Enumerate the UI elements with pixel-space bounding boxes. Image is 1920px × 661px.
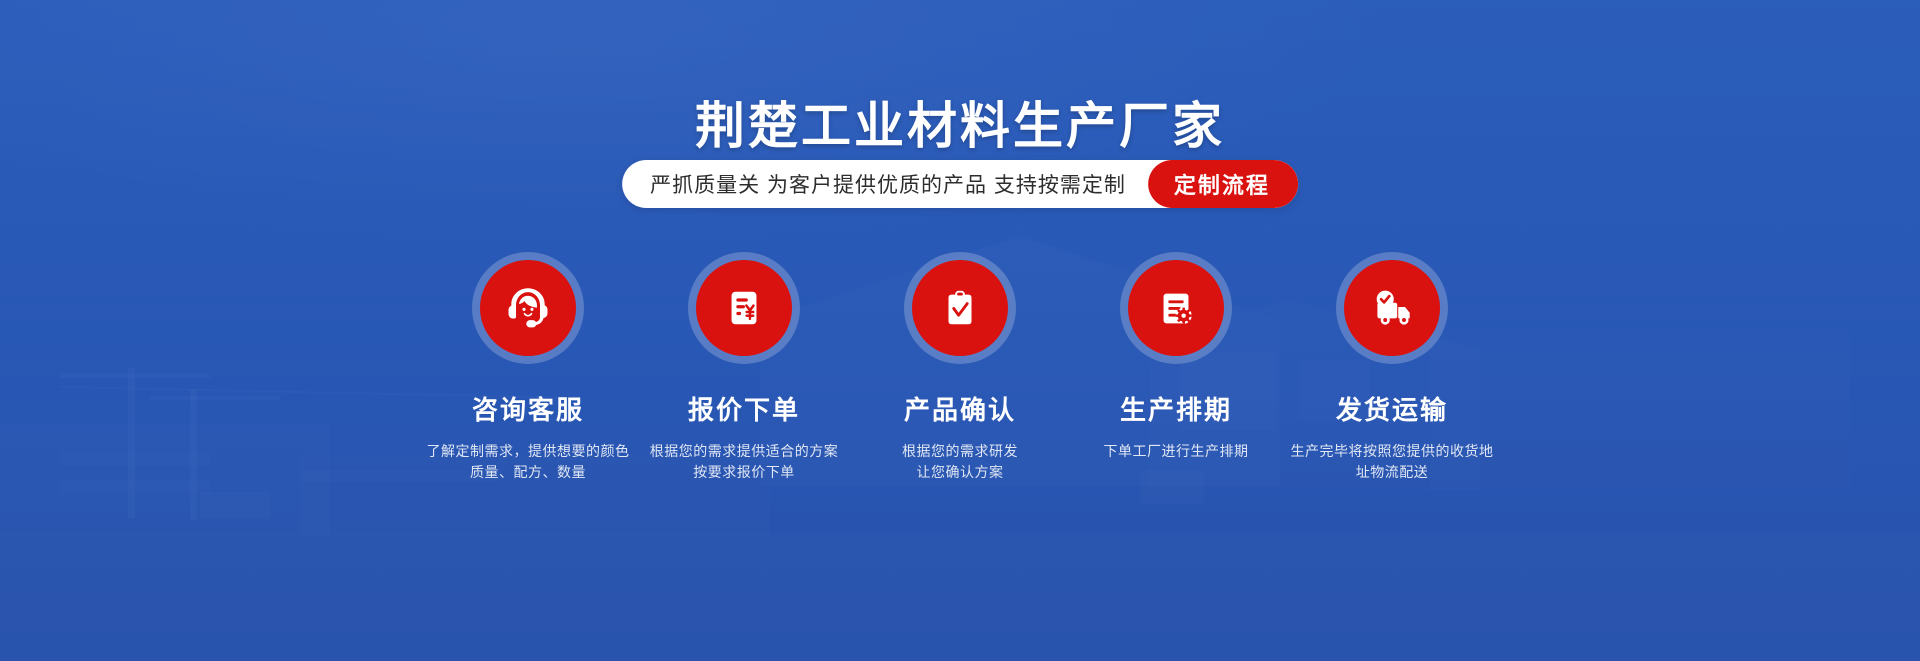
tagline-pill: 严抓质量关 为客户提供优质的产品 支持按需定制 定制流程 xyxy=(622,160,1298,208)
step-icon-ring[interactable] xyxy=(688,252,800,364)
delivery-truck-check-icon xyxy=(1367,283,1417,333)
step-description: 了解定制需求，提供想要的颜色 质量、配方、数量 xyxy=(423,441,633,483)
process-step[interactable]: 报价下单 根据您的需求提供适合的方案 按要求报价下单 xyxy=(636,252,852,483)
step-description-line1: 了解定制需求，提供想要的颜色 xyxy=(427,443,630,459)
step-description-line2: 让您确认方案 xyxy=(917,464,1004,480)
custom-process-button[interactable]: 定制流程 xyxy=(1148,160,1298,208)
step-description-line1: 根据您的需求研发 xyxy=(902,443,1018,459)
process-step[interactable]: 产品确认 根据您的需求研发 让您确认方案 xyxy=(852,252,1068,483)
step-description-line2: 质量、配方、数量 xyxy=(470,464,586,480)
step-description-line1: 下单工厂进行生产排期 xyxy=(1104,443,1249,459)
step-title: 报价下单 xyxy=(688,390,800,427)
step-description: 下单工厂进行生产排期 xyxy=(1071,441,1281,462)
process-step[interactable]: 生产排期 下单工厂进行生产排期 xyxy=(1068,252,1284,483)
process-steps: 咨询客服 了解定制需求，提供想要的颜色 质量、配方、数量 xyxy=(420,252,1500,483)
step-icon-ring[interactable] xyxy=(904,252,1016,364)
step-description-line1: 生产完毕将按照您提供的收货地 xyxy=(1291,443,1494,459)
step-title: 生产排期 xyxy=(1120,390,1232,427)
step-icon-disc xyxy=(696,260,792,356)
step-title: 咨询客服 xyxy=(472,390,584,427)
step-description: 根据您的需求提供适合的方案 按要求报价下单 xyxy=(639,441,849,483)
step-icon-disc xyxy=(480,260,576,356)
step-title: 发货运输 xyxy=(1336,390,1448,427)
step-description-line2: 址物流配送 xyxy=(1356,464,1429,480)
step-icon-ring[interactable] xyxy=(472,252,584,364)
process-step[interactable]: 发货运输 生产完毕将按照您提供的收货地 址物流配送 xyxy=(1284,252,1500,483)
process-step[interactable]: 咨询客服 了解定制需求，提供想要的颜色 质量、配方、数量 xyxy=(420,252,636,483)
step-description: 生产完毕将按照您提供的收货地 址物流配送 xyxy=(1287,441,1497,483)
step-icon-ring[interactable] xyxy=(1336,252,1448,364)
clipboard-check-icon xyxy=(937,285,983,331)
tagline-text: 严抓质量关 为客户提供优质的产品 支持按需定制 xyxy=(622,160,1148,208)
page-title: 荆楚工业材料生产厂家 xyxy=(0,86,1920,158)
step-icon-ring[interactable] xyxy=(1120,252,1232,364)
step-description-line2: 按要求报价下单 xyxy=(693,464,795,480)
step-description-line1: 根据您的需求提供适合的方案 xyxy=(650,443,839,459)
step-title: 产品确认 xyxy=(904,390,1016,427)
step-icon-disc xyxy=(912,260,1008,356)
document-gear-icon xyxy=(1153,285,1199,331)
quote-invoice-yuan-icon xyxy=(721,285,767,331)
headset-support-icon xyxy=(503,283,553,333)
step-icon-disc xyxy=(1344,260,1440,356)
promo-banner: 荆楚工业材料生产厂家 严抓质量关 为客户提供优质的产品 支持按需定制 定制流程 xyxy=(0,0,1920,661)
step-icon-disc xyxy=(1128,260,1224,356)
step-description: 根据您的需求研发 让您确认方案 xyxy=(855,441,1065,483)
